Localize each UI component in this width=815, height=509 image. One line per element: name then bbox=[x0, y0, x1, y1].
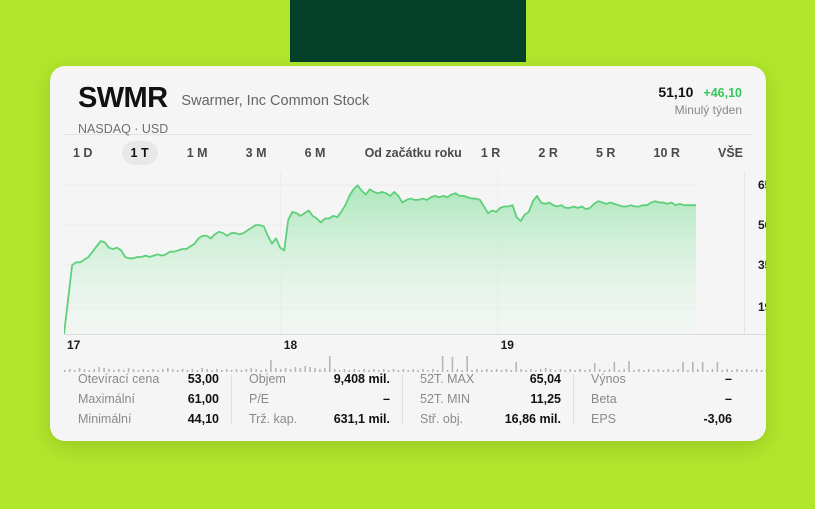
stat-value: – bbox=[725, 389, 732, 409]
stat-row: EPS-3,06 bbox=[591, 409, 732, 429]
chart-area: 65503519 171819 bbox=[50, 170, 766, 370]
stat-value: 9,408 mil. bbox=[334, 369, 390, 389]
y-tick-label: 65 bbox=[758, 178, 766, 192]
tab-10-r[interactable]: 10 R bbox=[645, 141, 689, 165]
time-range-tabs[interactable]: 1 D1 T1 M3 M6 MOd začátku roku1 R2 R5 R1… bbox=[64, 134, 752, 170]
stat-label: Maximální bbox=[78, 389, 135, 409]
stat-label: Beta bbox=[591, 389, 617, 409]
stat-label: EPS bbox=[591, 409, 616, 429]
tab-1-d[interactable]: 1 D bbox=[64, 141, 101, 165]
x-tick-label: 18 bbox=[284, 338, 297, 352]
exchange-label: NASDAQ · USD bbox=[78, 122, 744, 136]
stat-label: Stř. obj. bbox=[420, 409, 463, 429]
stat-label: 52T. MIN bbox=[420, 389, 470, 409]
tab-spacer bbox=[217, 148, 237, 158]
tab-5-r[interactable]: 5 R bbox=[587, 141, 624, 165]
stat-value: 11,25 bbox=[530, 389, 561, 409]
stat-row: 52T. MAX65,04 bbox=[420, 369, 561, 389]
price-change: +46,10 bbox=[703, 86, 742, 100]
stat-row: P/E– bbox=[249, 389, 390, 409]
company-name: Swarmer, Inc Common Stock bbox=[181, 94, 369, 109]
stat-value: 53,00 bbox=[188, 369, 219, 389]
stat-row: Stř. obj.16,86 mil. bbox=[420, 409, 561, 429]
stat-row: Minimální44,10 bbox=[78, 409, 219, 429]
stat-row: Otevírací cena53,00 bbox=[78, 369, 219, 389]
tab-1-t[interactable]: 1 T bbox=[122, 141, 158, 165]
stat-value: 44,10 bbox=[188, 409, 219, 429]
card-header: SWMR Swarmer, Inc Common Stock NASDAQ · … bbox=[50, 66, 766, 128]
stat-row: Maximální61,00 bbox=[78, 389, 219, 409]
tab-spacer bbox=[689, 148, 709, 158]
stat-row: 52T. MIN11,25 bbox=[420, 389, 561, 409]
x-axis-labels: 171819 bbox=[64, 338, 696, 354]
stat-label: 52T. MAX bbox=[420, 369, 474, 389]
stat-value: 65,04 bbox=[530, 369, 561, 389]
stat-value: 16,86 mil. bbox=[505, 409, 561, 429]
stock-card: SWMR Swarmer, Inc Common Stock NASDAQ · … bbox=[50, 66, 766, 441]
stat-value: 631,1 mil. bbox=[334, 409, 390, 429]
chart-area-fill bbox=[64, 185, 696, 334]
x-axis-line bbox=[64, 334, 766, 335]
tab-6-m[interactable]: 6 M bbox=[296, 141, 335, 165]
x-tick-label: 17 bbox=[67, 338, 80, 352]
top-banner bbox=[290, 0, 526, 62]
stats-column-3: 52T. MAX65,0452T. MIN11,25Stř. obj.16,86… bbox=[402, 369, 573, 429]
price-block: 51,10 +46,10 Minulý týden bbox=[658, 84, 742, 117]
tab-3-m[interactable]: 3 M bbox=[237, 141, 276, 165]
tab-spacer bbox=[567, 148, 587, 158]
y-tick-label: 19 bbox=[758, 300, 766, 314]
stat-label: Trž. kap. bbox=[249, 409, 297, 429]
ticker-symbol: SWMR bbox=[78, 84, 167, 113]
stat-value: – bbox=[383, 389, 390, 409]
price-chart-svg bbox=[64, 172, 696, 334]
stat-label: Otevírací cena bbox=[78, 369, 159, 389]
stat-value: – bbox=[725, 369, 732, 389]
tab-spacer bbox=[509, 148, 529, 158]
y-tick-label: 50 bbox=[758, 218, 766, 232]
stat-row: Beta– bbox=[591, 389, 732, 409]
tab-1-r[interactable]: 1 R bbox=[472, 141, 509, 165]
x-tick-label: 19 bbox=[501, 338, 514, 352]
stat-value: -3,06 bbox=[704, 409, 733, 429]
stats-column-1: Otevírací cena53,00Maximální61,00Minimál… bbox=[78, 369, 231, 429]
tab-1-m[interactable]: 1 M bbox=[178, 141, 217, 165]
tab-spacer bbox=[101, 148, 121, 158]
stats-column-2: Objem9,408 mil.P/E–Trž. kap.631,1 mil. bbox=[231, 369, 402, 429]
stat-row: Objem9,408 mil. bbox=[249, 369, 390, 389]
stat-label: Objem bbox=[249, 369, 286, 389]
current-price: 51,10 bbox=[658, 84, 693, 100]
y-axis-labels: 65503519 bbox=[750, 172, 766, 334]
price-period-label: Minulý týden bbox=[658, 103, 742, 117]
symbol-row: SWMR Swarmer, Inc Common Stock bbox=[78, 84, 744, 113]
price-line: 51,10 +46,10 bbox=[658, 84, 742, 100]
chart-right-divider bbox=[744, 172, 745, 335]
tab-spacer bbox=[624, 148, 644, 158]
stat-value: 61,00 bbox=[188, 389, 219, 409]
stat-label: Minimální bbox=[78, 409, 132, 429]
tab-od-za-tku-roku[interactable]: Od začátku roku bbox=[355, 141, 472, 165]
stats-table: Otevírací cena53,00Maximální61,00Minimál… bbox=[50, 369, 766, 441]
stat-row: Výnos– bbox=[591, 369, 732, 389]
tab-spacer bbox=[158, 148, 178, 158]
stat-label: P/E bbox=[249, 389, 269, 409]
stat-label: Výnos bbox=[591, 369, 626, 389]
stats-column-4: Výnos–Beta–EPS-3,06 bbox=[573, 369, 744, 429]
tab-2-r[interactable]: 2 R bbox=[529, 141, 566, 165]
price-chart[interactable] bbox=[64, 172, 696, 334]
stat-row: Trž. kap.631,1 mil. bbox=[249, 409, 390, 429]
y-tick-label: 35 bbox=[758, 258, 766, 272]
tab-v-e[interactable]: VŠE bbox=[709, 141, 752, 165]
tab-spacer bbox=[334, 148, 354, 158]
tab-spacer bbox=[275, 148, 295, 158]
